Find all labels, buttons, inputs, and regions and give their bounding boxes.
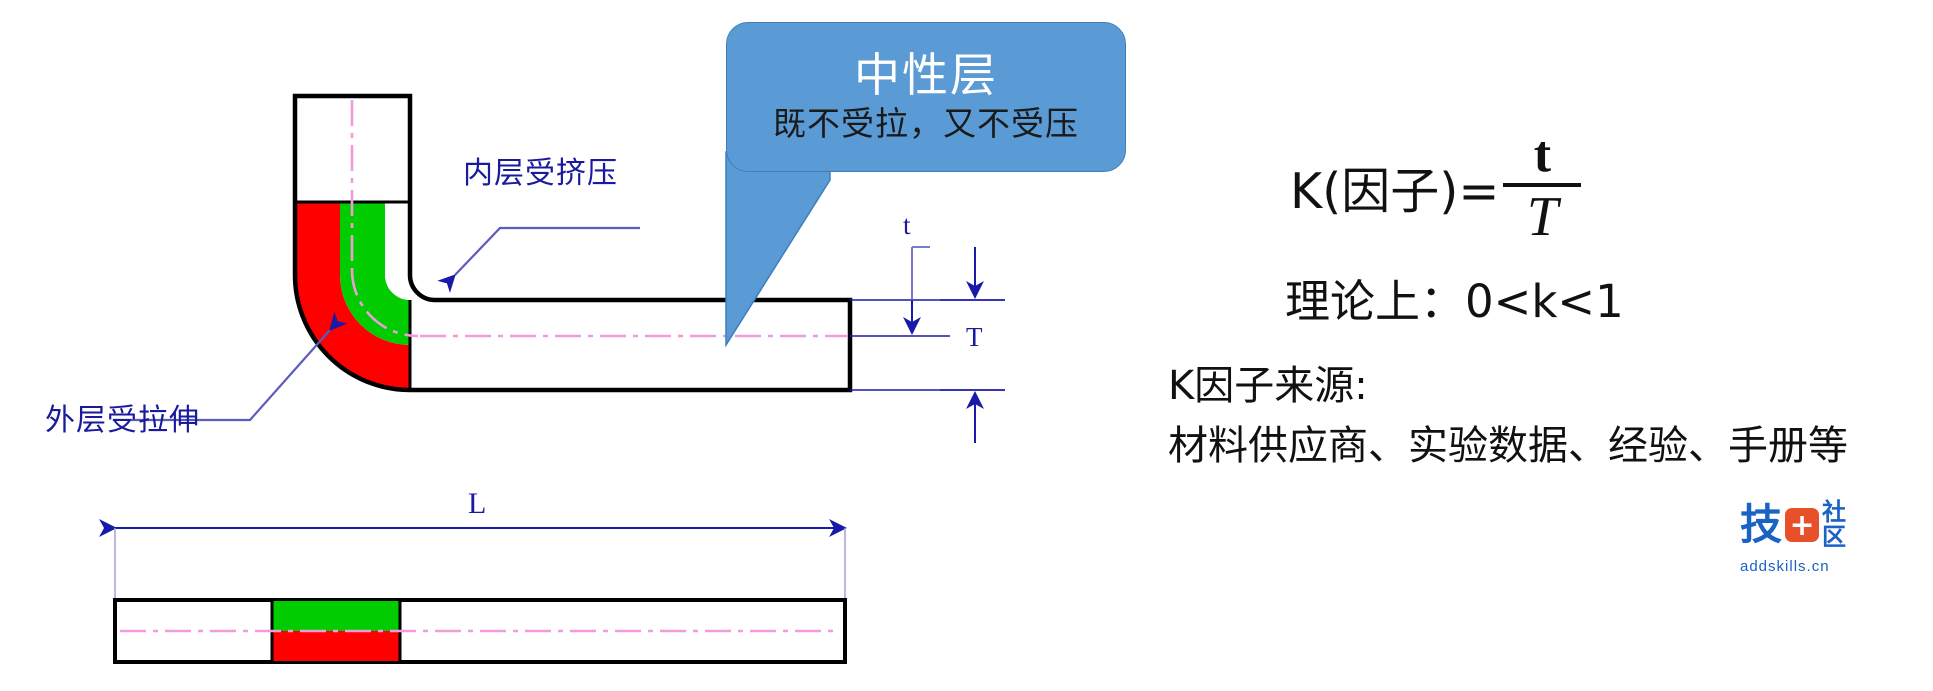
formula-denominator: T	[1513, 191, 1572, 244]
source-body: 材料供应商、实验数据、经验、手册等	[1168, 413, 1848, 471]
logo-character: 技	[1740, 504, 1782, 546]
label-outer-layer: 外层受拉伸	[45, 395, 200, 439]
callout-tail	[726, 152, 830, 345]
dimension-label-T: T	[966, 322, 983, 353]
plus-icon: +	[1785, 508, 1819, 542]
flat-blank-drawing	[115, 528, 845, 662]
callout-subtitle: 既不受拉，又不受压	[773, 105, 1079, 143]
neutral-layer-callout: 中性层 既不受拉，又不受压	[726, 22, 1126, 172]
callout-title: 中性层	[854, 51, 998, 99]
callout-tail-svg	[700, 150, 960, 350]
logo-suffix-bottom: 区	[1822, 525, 1846, 550]
formula-fraction: t T	[1503, 130, 1581, 245]
source-title: K因子来源:	[1168, 353, 1368, 411]
theory-range-text: 理论上：0<k<1	[1285, 265, 1624, 330]
diagram-canvas: 中性层 既不受拉，又不受压 内层受挤压 外层受拉伸 t T L K(因子)= t…	[0, 0, 1933, 691]
logo-url: addskills.cn	[1740, 558, 1910, 575]
formula-left-side: K(因子)=	[1290, 152, 1499, 223]
leader-inner-layer	[455, 228, 640, 275]
logo-suffix: 社 区	[1822, 500, 1846, 550]
k-factor-formula: K(因子)= t T	[1290, 130, 1581, 245]
logo-suffix-top: 社	[1822, 500, 1846, 525]
dimension-label-L: L	[468, 487, 486, 521]
label-inner-layer: 内层受挤压	[463, 148, 618, 192]
formula-numerator: t	[1520, 130, 1565, 179]
bend-color-bands	[295, 202, 410, 390]
logo-mark: 技 + 社 区	[1740, 500, 1910, 550]
site-logo: 技 + 社 区 addskills.cn	[1740, 500, 1910, 590]
dimension-label-t: t	[903, 210, 911, 241]
